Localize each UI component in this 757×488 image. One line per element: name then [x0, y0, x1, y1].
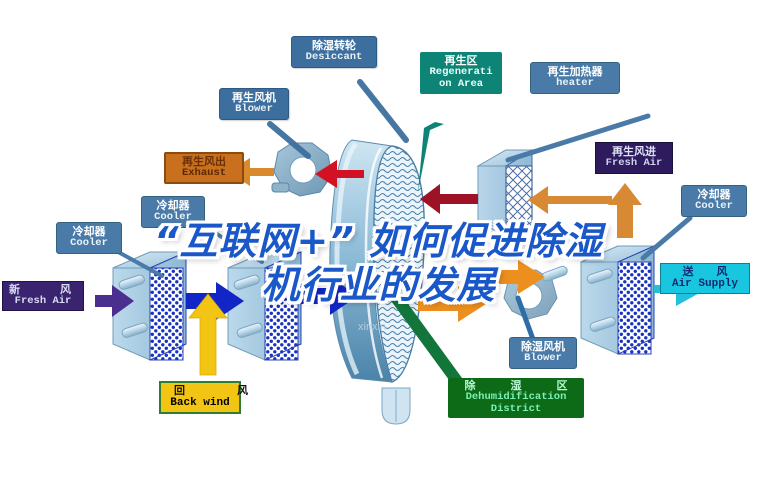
label-dehumidification-district-en2: District — [451, 404, 581, 416]
label-desiccant-wheel: 除湿转轮 Desiccant — [291, 36, 377, 68]
label-regeneration-fresh-air-en: Fresh Air — [600, 158, 668, 170]
label-back-wind-cn: 回 风 — [164, 385, 236, 397]
label-regeneration-fresh-air: 再生风进 Fresh Air — [595, 142, 673, 174]
label-regeneration-blower-en: Blower — [224, 104, 284, 116]
label-regeneration-blower: 再生风机 Blower — [219, 88, 289, 120]
label-air-supply-en: Air Supply — [664, 278, 746, 290]
label-cooler-right-en: Cooler — [686, 201, 742, 213]
svg-text:xinxin: xinxin — [358, 321, 386, 333]
label-regeneration-heater-en: heater — [535, 78, 615, 90]
label-exhaust: 再生风出 Exhaust — [164, 152, 244, 184]
label-dehumidification-blower: 除湿风机 Blower — [509, 337, 577, 369]
label-dehumidification-district: 除 湿 区 Dehumidification District — [448, 378, 584, 418]
regeneration-heater-unit — [478, 150, 532, 236]
arrow-regen-fresh-in — [608, 183, 642, 238]
label-regeneration-heater: 再生加热器 heater — [530, 62, 620, 94]
label-fresh-air: 新 风 Fresh Air — [2, 281, 84, 311]
label-regeneration-area-en2: on Area — [424, 79, 498, 91]
arrow-dehum-1 — [418, 286, 486, 322]
diagram-canvas: xinxin — [0, 0, 757, 488]
cooler-unit-c — [581, 246, 654, 354]
label-cooler-mid: 冷却器 Cooler — [141, 196, 205, 228]
label-exhaust-en: Exhaust — [169, 168, 239, 180]
label-dehumidification-blower-en: Blower — [514, 353, 572, 365]
label-air-supply-cn: 送 风 — [664, 266, 746, 278]
label-fresh-air-en: Fresh Air — [6, 296, 80, 308]
label-cooler-left-en: Cooler — [61, 238, 117, 250]
arrow-regen-air-left — [528, 186, 612, 214]
label-back-wind: 回 风 Back wind — [159, 381, 241, 414]
label-cooler-right: 冷却器 Cooler — [681, 185, 747, 217]
label-back-wind-en: Back wind — [164, 397, 236, 409]
label-cooler-left: 冷却器 Cooler — [56, 222, 122, 254]
cooler-unit-b — [228, 252, 301, 360]
label-desiccant-wheel-en: Desiccant — [296, 52, 372, 64]
arrow-regen-to-wheel — [420, 184, 478, 214]
label-air-supply: 送 风 Air Supply — [660, 263, 750, 294]
label-cooler-mid-en: Cooler — [146, 212, 200, 224]
label-regeneration-area: 再生区 Regenerati on Area — [420, 52, 502, 94]
